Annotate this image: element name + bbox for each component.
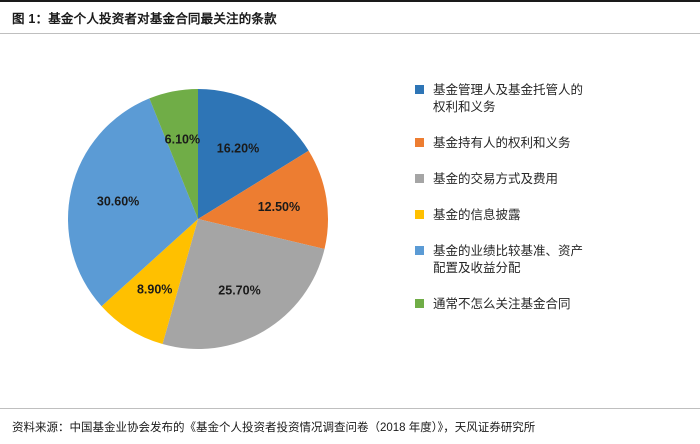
source-text: 资料来源：中国基金业协会发布的《基金个人投资者投资情况调查问卷（2018 年度）… [0, 419, 535, 435]
legend-swatch-icon [415, 138, 424, 147]
pie-slice-label-3: 8.90% [137, 283, 172, 297]
chart-legend: 基金管理人及基金托管人的 权利和义务 基金持有人的权利和义务 基金的交易方式及费… [415, 82, 680, 332]
legend-item-label: 基金的业绩比较基准、资产 配置及收益分配 [433, 243, 583, 277]
legend-item-label: 基金管理人及基金托管人的 权利和义务 [433, 82, 583, 116]
pie-chart: 16.20% 12.50% 25.70% 8.90% 30.60% 6.10% [28, 64, 368, 374]
legend-item[interactable]: 基金持有人的权利和义务 [415, 135, 680, 152]
legend-item-label: 通常不怎么关注基金合同 [433, 296, 571, 313]
legend-item-label: 基金持有人的权利和义务 [433, 135, 571, 152]
legend-item[interactable]: 基金的业绩比较基准、资产 配置及收益分配 [415, 243, 680, 277]
pie-svg: 16.20% 12.50% 25.70% 8.90% 30.60% 6.10% [28, 64, 368, 374]
pie-slice-label-2: 25.70% [218, 284, 260, 298]
legend-swatch-icon [415, 246, 424, 255]
page-title: 图 1：基金个人投资者对基金合同最关注的条款 [0, 8, 277, 27]
legend-item[interactable]: 基金的交易方式及费用 [415, 171, 680, 188]
legend-swatch-icon [415, 174, 424, 183]
legend-item[interactable]: 通常不怎么关注基金合同 [415, 296, 680, 313]
legend-item[interactable]: 基金管理人及基金托管人的 权利和义务 [415, 82, 680, 116]
pie-slice-label-1: 12.50% [258, 200, 300, 214]
legend-item-label: 基金的信息披露 [433, 207, 521, 224]
chart-body: 16.20% 12.50% 25.70% 8.90% 30.60% 6.10% … [0, 34, 700, 408]
legend-item-label: 基金的交易方式及费用 [433, 171, 558, 188]
pie-slice-label-5: 6.10% [165, 133, 200, 147]
pie-slice-label-4: 30.60% [97, 195, 139, 209]
chart-page: 图 1：基金个人投资者对基金合同最关注的条款 16.20% 12.50% 2 [0, 0, 700, 444]
legend-swatch-icon [415, 85, 424, 94]
chart-title-bar: 图 1：基金个人投资者对基金合同最关注的条款 [0, 0, 700, 34]
legend-swatch-icon [415, 210, 424, 219]
legend-item[interactable]: 基金的信息披露 [415, 207, 680, 224]
legend-swatch-icon [415, 299, 424, 308]
pie-slice-label-0: 16.20% [217, 141, 259, 155]
source-bar: 资料来源：中国基金业协会发布的《基金个人投资者投资情况调查问卷（2018 年度）… [0, 408, 700, 444]
